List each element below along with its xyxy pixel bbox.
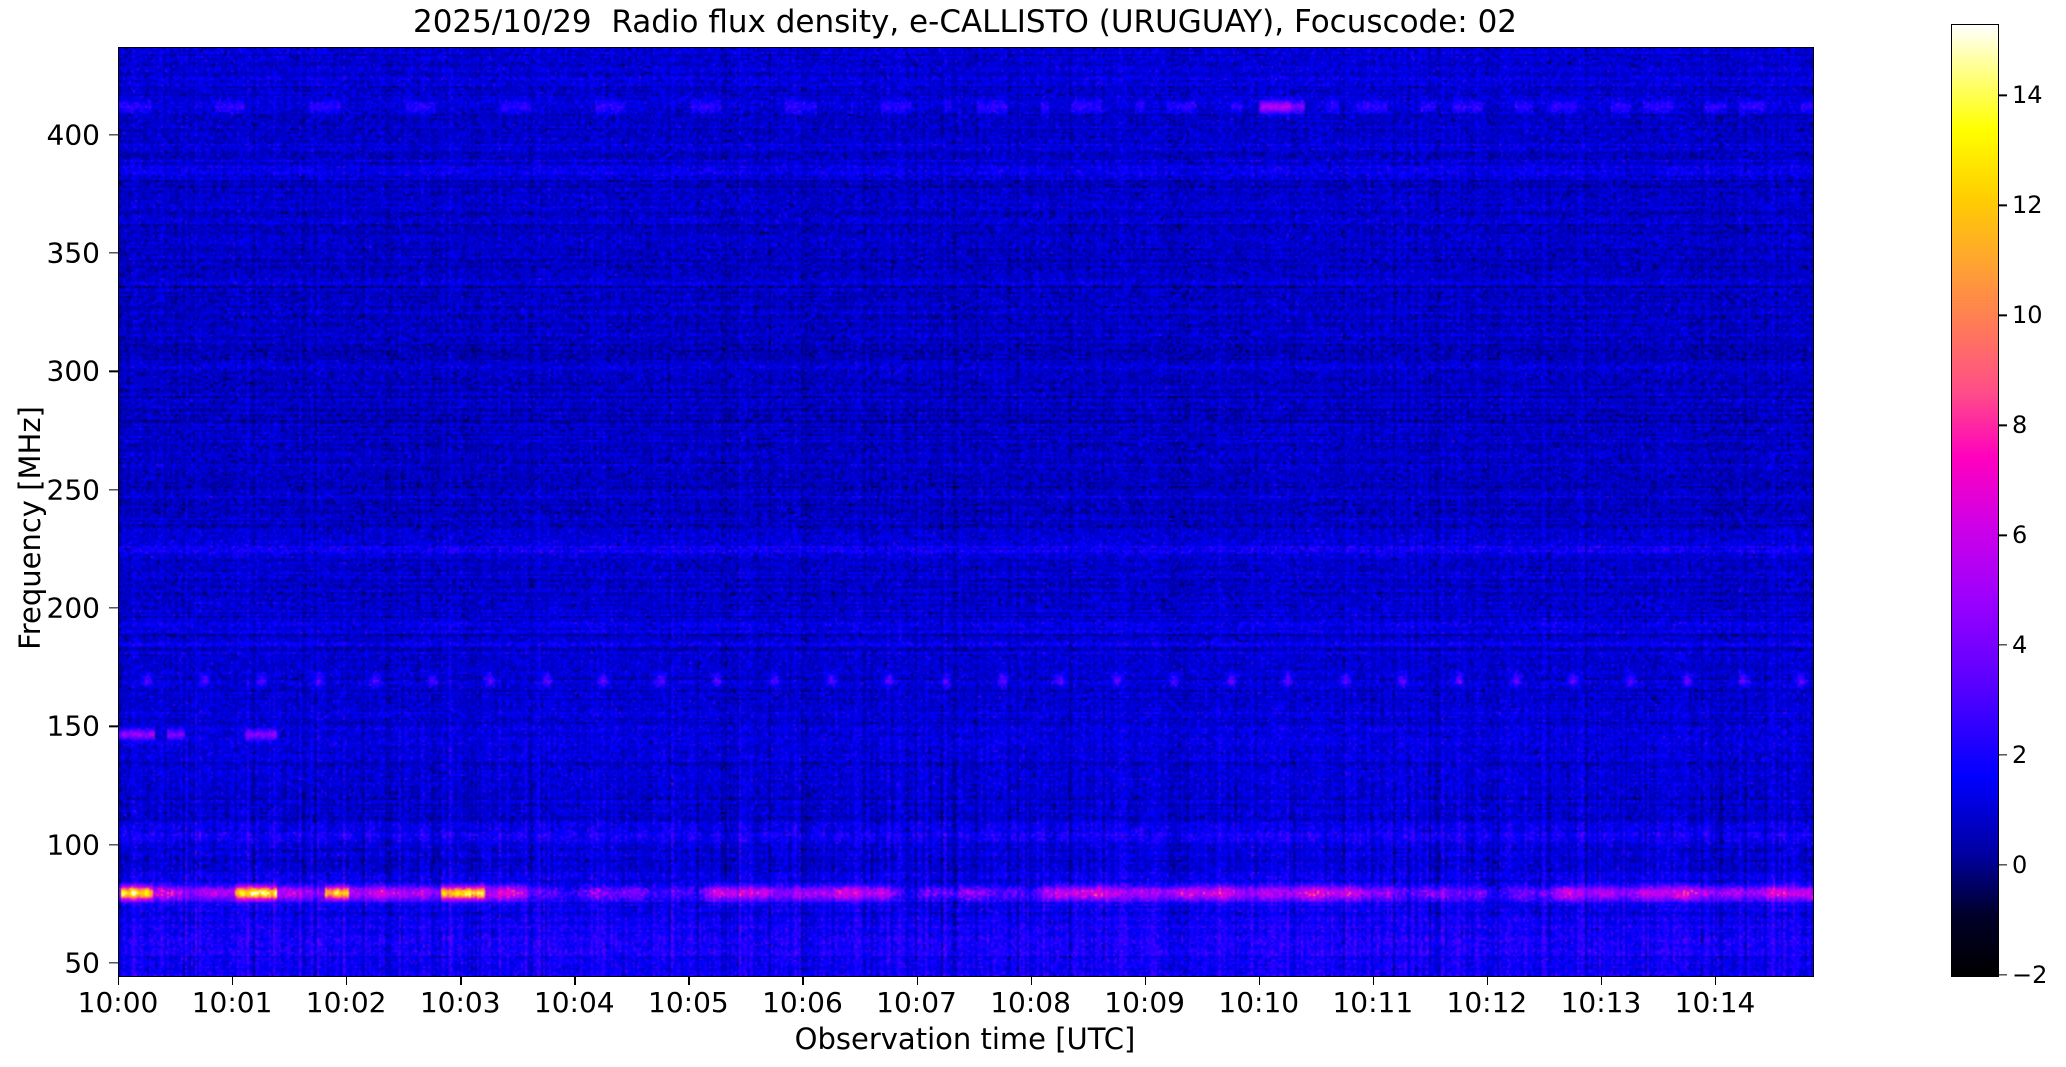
x-tick-label-1003: 10:03 [420,986,501,1019]
x-tick-label-1013: 10:13 [1561,986,1642,1019]
x-tick-label-1000: 10:00 [78,986,159,1019]
colorbar-gradient [1952,25,1998,976]
x-tick-mark-1003 [460,976,461,985]
colorbar[interactable] [1951,24,1999,977]
x-tick-mark-1001 [232,976,233,985]
colorbar-tick-label--2: −2 [2012,961,2047,989]
x-tick-mark-1002 [346,976,347,985]
x-tick-label-1008: 10:08 [990,986,1071,1019]
colorbar-tick-label-6: 6 [2012,521,2027,549]
x-tick-label-1011: 10:11 [1332,986,1413,1019]
x-tick-mark-1008 [1031,976,1032,985]
x-tick-mark-1012 [1487,976,1488,985]
x-tick-label-1005: 10:05 [648,986,729,1019]
x-tick-mark-1006 [802,976,803,985]
x-tick-mark-1011 [1373,976,1374,985]
colorbar-tick-label-4: 4 [2012,631,2027,659]
colorbar-tick-mark-12 [1999,205,2007,206]
x-tick-mark-1010 [1259,976,1260,985]
colorbar-tick-mark-8 [1999,425,2007,426]
x-tick-mark-1004 [574,976,575,985]
colorbar-tick-label-2: 2 [2012,741,2027,769]
colorbar-tick-mark--2 [1999,974,2007,975]
colorbar-tick-mark-2 [1999,754,2007,755]
colorbar-tick-label-0: 0 [2012,851,2027,879]
x-tick-label-1007: 10:07 [876,986,957,1019]
colorbar-tick-label-10: 10 [2012,301,2043,329]
x-tick-mark-1000 [118,976,119,985]
x-tick-label-1009: 10:09 [1104,986,1185,1019]
colorbar-tick-label-12: 12 [2012,191,2043,219]
x-tick-mark-1009 [1145,976,1146,985]
x-axis-ticks: 10:0010:0110:0210:0310:0410:0510:0610:07… [0,0,2066,1067]
x-tick-label-1002: 10:02 [306,986,387,1019]
colorbar-tick-label-8: 8 [2012,411,2027,439]
x-tick-label-1014: 10:14 [1675,986,1756,1019]
colorbar-tick-mark-6 [1999,535,2007,536]
x-axis-label: Observation time [UTC] [118,1022,1812,1056]
x-tick-label-1001: 10:01 [192,986,273,1019]
x-tick-mark-1007 [917,976,918,985]
colorbar-tick-label-14: 14 [2012,81,2043,109]
x-tick-label-1004: 10:04 [534,986,615,1019]
colorbar-tick-mark-4 [1999,645,2007,646]
figure-root: 2025/10/29 Radio flux density, e-CALLIST… [0,0,2066,1067]
x-tick-mark-1005 [688,976,689,985]
x-tick-label-1006: 10:06 [762,986,843,1019]
x-tick-label-1012: 10:12 [1447,986,1528,1019]
x-tick-mark-1014 [1715,976,1716,985]
colorbar-tick-mark-0 [1999,864,2007,865]
colorbar-tick-mark-10 [1999,315,2007,316]
x-tick-label-1010: 10:10 [1218,986,1299,1019]
colorbar-tick-mark-14 [1999,95,2007,96]
x-tick-mark-1013 [1601,976,1602,985]
